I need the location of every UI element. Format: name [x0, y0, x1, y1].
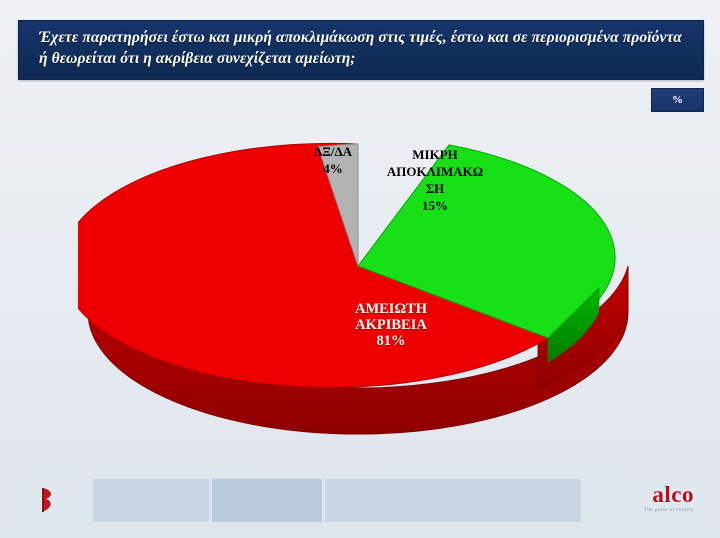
footer-bar: alco The pulse of society: [18, 478, 702, 522]
flag-icon: [40, 486, 58, 514]
brand-tagline: The pulse of society: [644, 506, 694, 514]
slide-root: Έχετε παρατηρήσει έστω και μικρή αποκλιμ…: [0, 0, 720, 538]
title-banner: Έχετε παρατηρήσει έστω και μικρή αποκλιμ…: [18, 20, 704, 80]
brand-name: alco: [644, 483, 694, 506]
footer-segment-3: [212, 478, 322, 522]
footer-segment-4: [325, 478, 581, 522]
page-title: Έχετε παρατηρήσει έστω και μικρή αποκλιμ…: [39, 27, 689, 69]
footer-segment-brand: alco The pulse of society: [584, 478, 702, 522]
footer-segment-logo: [18, 478, 90, 522]
unit-badge: %: [651, 88, 704, 112]
chart-area: ΑΜΕΙΩΤΗ ΑΚΡΙΒΕΙΑ 81% ΜΙΚΡΗ ΑΠΟΚΛΙΜΑΚΩ ΣΗ…: [18, 116, 702, 468]
footer-segment-2: [93, 478, 209, 522]
pie-chart: ΑΜΕΙΩΤΗ ΑΚΡΙΒΕΙΑ 81% ΜΙΚΡΗ ΑΠΟΚΛΙΜΑΚΩ ΣΗ…: [78, 116, 638, 456]
pie-chart-svg: [78, 116, 638, 456]
brand-logo: alco The pulse of society: [644, 483, 694, 514]
